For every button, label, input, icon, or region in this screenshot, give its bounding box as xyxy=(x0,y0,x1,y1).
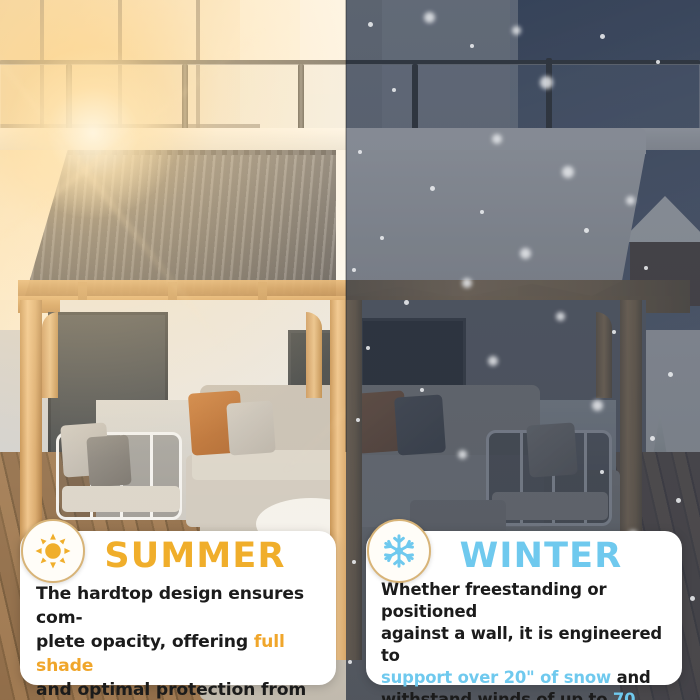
winter-body-text: Whether freestanding or positioned again… xyxy=(381,579,669,700)
throw-pillow-grey xyxy=(226,400,276,455)
rail-post-winter xyxy=(412,64,418,134)
winter-badge[interactable] xyxy=(367,519,431,583)
pergola-beam-upper-winter xyxy=(346,280,690,296)
sun-icon xyxy=(34,532,72,570)
rail-post xyxy=(298,64,304,134)
sofa-seat-cushion xyxy=(192,450,346,480)
summer-badge[interactable] xyxy=(21,519,85,583)
pergola-brace-center xyxy=(306,312,322,398)
balcony-glass-winter xyxy=(346,64,700,132)
pergola-post-center-winter xyxy=(346,300,362,660)
summer-body-line2: plete opacity, offering xyxy=(36,632,254,652)
summer-body-text: The hardtop design ensures com- plete op… xyxy=(36,582,321,700)
sun-glow xyxy=(8,48,178,218)
throw-pillow-dark-winter xyxy=(394,394,446,455)
chair-seat-cushion xyxy=(62,486,180,512)
summer-body-line1: The hardtop design ensures com- xyxy=(36,584,304,628)
winter-body-line3-tail: and xyxy=(611,668,651,687)
pergola-brace-left xyxy=(42,312,58,398)
chair-pillow-winter xyxy=(526,422,578,477)
winter-body-line1: Whether freestanding or positioned xyxy=(381,580,606,621)
chair-pillow-dark xyxy=(86,435,131,488)
winter-highlight-snow-load: support over 20" of snow xyxy=(381,668,611,687)
chair-seat-winter xyxy=(492,492,608,520)
summer-body-line3: and optimal protection from the sun. xyxy=(36,680,306,700)
snowflake-icon xyxy=(380,532,418,570)
rail-post-winter xyxy=(546,58,552,134)
season-split-seam xyxy=(345,0,347,452)
rail-post xyxy=(182,64,188,134)
pergola-brace-right xyxy=(596,312,612,398)
feature-image: SUMMER The hardtop design ensures com- p… xyxy=(0,0,700,700)
winter-body-line4: withstand winds of up to xyxy=(381,690,613,700)
winter-body-line2: against a wall, it is engineered to xyxy=(381,624,662,665)
